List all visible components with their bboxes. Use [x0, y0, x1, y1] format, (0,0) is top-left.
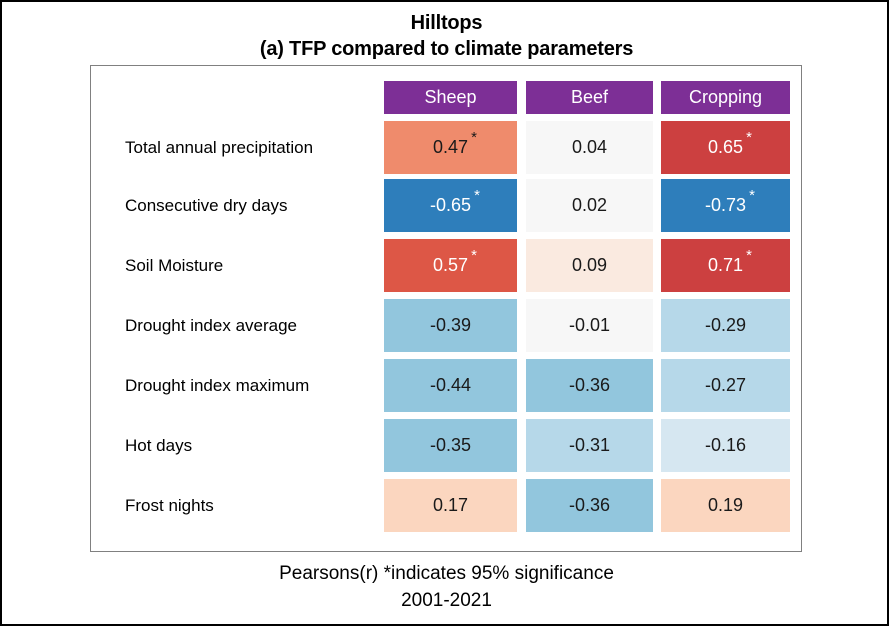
row-label: Consecutive dry days — [125, 179, 385, 232]
cell-value: 0.65* — [708, 137, 743, 158]
cell-value: -0.29 — [705, 315, 746, 336]
heatmap-cell: -0.27 — [661, 359, 790, 412]
row-label-text: Consecutive dry days — [125, 196, 288, 216]
figure-container: Hilltops (a) TFP compared to climate par… — [0, 0, 889, 626]
column-header-label: Cropping — [689, 87, 762, 108]
heatmap-cell: -0.39 — [384, 299, 517, 352]
caption-line-2: 2001-2021 — [2, 587, 889, 614]
heatmap-cell: 0.09 — [526, 239, 653, 292]
cell-value: -0.16 — [705, 435, 746, 456]
row-label: Frost nights — [125, 479, 385, 532]
heatmap-cell: -0.31 — [526, 419, 653, 472]
heatmap-cell: 0.17 — [384, 479, 517, 532]
row-label-text: Frost nights — [125, 496, 214, 516]
row-label-text: Drought index average — [125, 316, 297, 336]
cell-value: -0.35 — [430, 435, 471, 456]
column-header-cropping: Cropping — [661, 81, 790, 114]
significance-star-icon: * — [471, 248, 477, 263]
heatmap-cell: -0.16 — [661, 419, 790, 472]
heatmap-cell: -0.73* — [661, 179, 790, 232]
row-label: Drought index maximum — [125, 359, 385, 412]
cell-value: -0.36 — [569, 495, 610, 516]
cell-value: -0.39 — [430, 315, 471, 336]
row-label: Soil Moisture — [125, 239, 385, 292]
row-label-text: Drought index maximum — [125, 376, 309, 396]
row-label-text: Hot days — [125, 436, 192, 456]
heatmap-cell: 0.04 — [526, 121, 653, 174]
cell-value: -0.31 — [569, 435, 610, 456]
cell-value: 0.04 — [572, 137, 607, 158]
heatmap-cell: 0.57* — [384, 239, 517, 292]
cell-value: -0.65* — [430, 195, 471, 216]
significance-star-icon: * — [471, 130, 477, 145]
title-line-2: (a) TFP compared to climate parameters — [2, 36, 889, 62]
cell-value: -0.36 — [569, 375, 610, 396]
heatmap-cell: -0.36 — [526, 479, 653, 532]
caption-line-1: Pearsons(r) *indicates 95% significance — [2, 560, 889, 587]
cell-value: 0.57* — [433, 255, 468, 276]
heatmap-cell: 0.71* — [661, 239, 790, 292]
heatmap-cell: 0.65* — [661, 121, 790, 174]
heatmap-cell: -0.01 — [526, 299, 653, 352]
column-header-sheep: Sheep — [384, 81, 517, 114]
significance-star-icon: * — [746, 130, 752, 145]
cell-value: 0.09 — [572, 255, 607, 276]
row-label: Drought index average — [125, 299, 385, 352]
cell-value: 0.19 — [708, 495, 743, 516]
heatmap-cell: 0.19 — [661, 479, 790, 532]
significance-star-icon: * — [749, 188, 755, 203]
heatmap-cell: -0.44 — [384, 359, 517, 412]
column-header-label: Sheep — [424, 87, 476, 108]
column-header-beef: Beef — [526, 81, 653, 114]
heatmap-cell: 0.47* — [384, 121, 517, 174]
significance-star-icon: * — [474, 188, 480, 203]
heatmap-matrix: SheepBeefCroppingTotal annual precipitat… — [91, 66, 803, 553]
significance-star-icon: * — [746, 248, 752, 263]
cell-value: 0.71* — [708, 255, 743, 276]
cell-value: -0.01 — [569, 315, 610, 336]
cell-value: 0.02 — [572, 195, 607, 216]
column-header-label: Beef — [571, 87, 608, 108]
row-label: Hot days — [125, 419, 385, 472]
heatmap-cell: -0.65* — [384, 179, 517, 232]
figure-caption: Pearsons(r) *indicates 95% significance … — [2, 560, 889, 614]
figure-title: Hilltops (a) TFP compared to climate par… — [2, 10, 889, 62]
heatmap-cell: -0.36 — [526, 359, 653, 412]
cell-value: -0.73* — [705, 195, 746, 216]
row-label: Total annual precipitation — [125, 121, 385, 174]
cell-value: -0.44 — [430, 375, 471, 396]
heatmap-cell: -0.35 — [384, 419, 517, 472]
title-line-1: Hilltops — [2, 10, 889, 36]
heatmap-cell: -0.29 — [661, 299, 790, 352]
cell-value: 0.17 — [433, 495, 468, 516]
row-label-text: Total annual precipitation — [125, 138, 313, 158]
cell-value: -0.27 — [705, 375, 746, 396]
heatmap-cell: 0.02 — [526, 179, 653, 232]
row-label-text: Soil Moisture — [125, 256, 223, 276]
heatmap-frame: SheepBeefCroppingTotal annual precipitat… — [90, 65, 802, 552]
cell-value: 0.47* — [433, 137, 468, 158]
